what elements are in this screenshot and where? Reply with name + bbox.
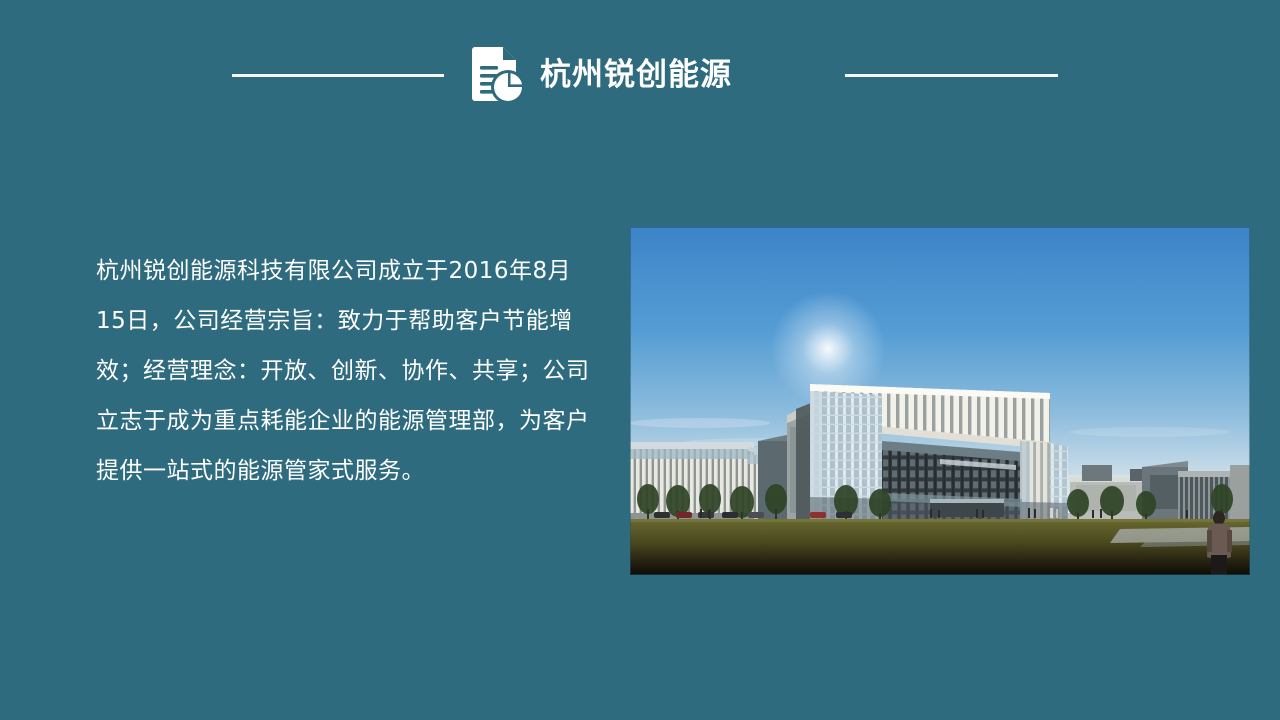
foreground-lawn	[630, 519, 1250, 575]
company-description-paragraph: 杭州锐创能源科技有限公司成立于2016年8月15日，公司经营宗旨：致力于帮助客户…	[96, 246, 596, 496]
decorative-rule-left	[232, 74, 444, 77]
slide-header: 杭州锐创能源	[0, 0, 1280, 150]
parked-cars	[654, 512, 852, 518]
slide-root: 杭州锐创能源 杭州锐创能源科技有限公司成立于2016年8月15日，公司经营宗旨：…	[0, 0, 1280, 720]
page-title: 杭州锐创能源	[540, 60, 732, 91]
main-tower	[787, 384, 1068, 519]
brand-lockup: 杭州锐创能源	[470, 45, 732, 105]
decorative-rule-right	[845, 74, 1058, 77]
building-photo	[630, 227, 1250, 575]
building-rendering-illustration	[630, 227, 1250, 575]
document-chart-icon	[470, 46, 524, 104]
